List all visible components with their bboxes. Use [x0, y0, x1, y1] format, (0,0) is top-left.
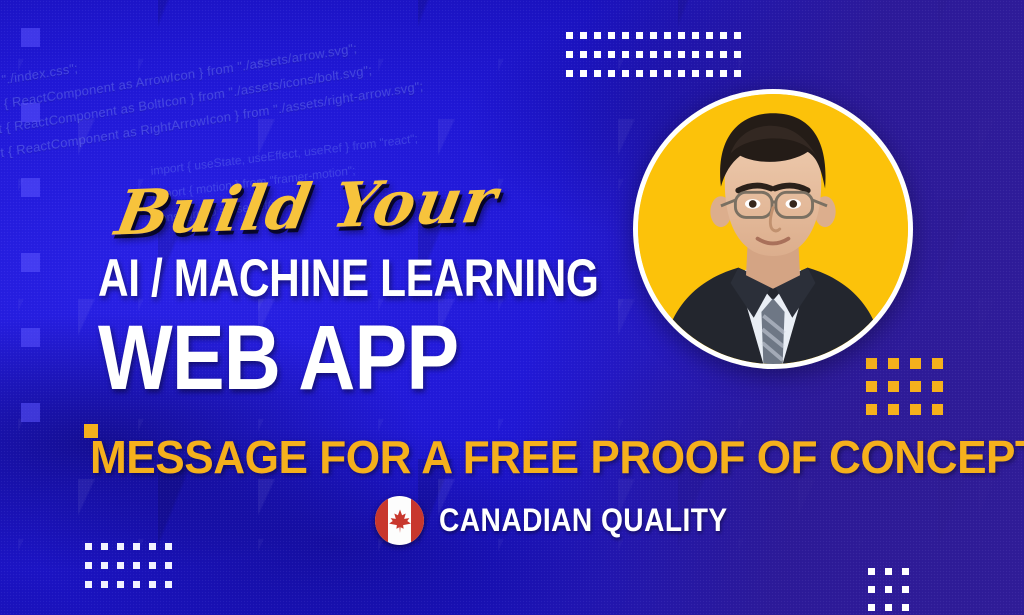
- dot-grid-gold: [866, 358, 954, 427]
- maple-leaf-icon: [387, 508, 413, 534]
- canadian-flag-icon: [375, 496, 424, 545]
- portrait-illustration: [638, 94, 908, 364]
- portrait-avatar: [633, 89, 913, 369]
- dot-grid-bottom-right: [868, 568, 919, 615]
- headline-line-2: WEB APP: [98, 312, 458, 404]
- promo-banner: import "./index.css"; import { ReactComp…: [0, 0, 1024, 615]
- quality-badge: CANADIAN QUALITY: [375, 496, 767, 545]
- quality-label: CANADIAN QUALITY: [439, 502, 728, 539]
- headline-line-1: AI / MACHINE LEARNING: [98, 252, 598, 305]
- script-headline: Build Your: [111, 169, 502, 244]
